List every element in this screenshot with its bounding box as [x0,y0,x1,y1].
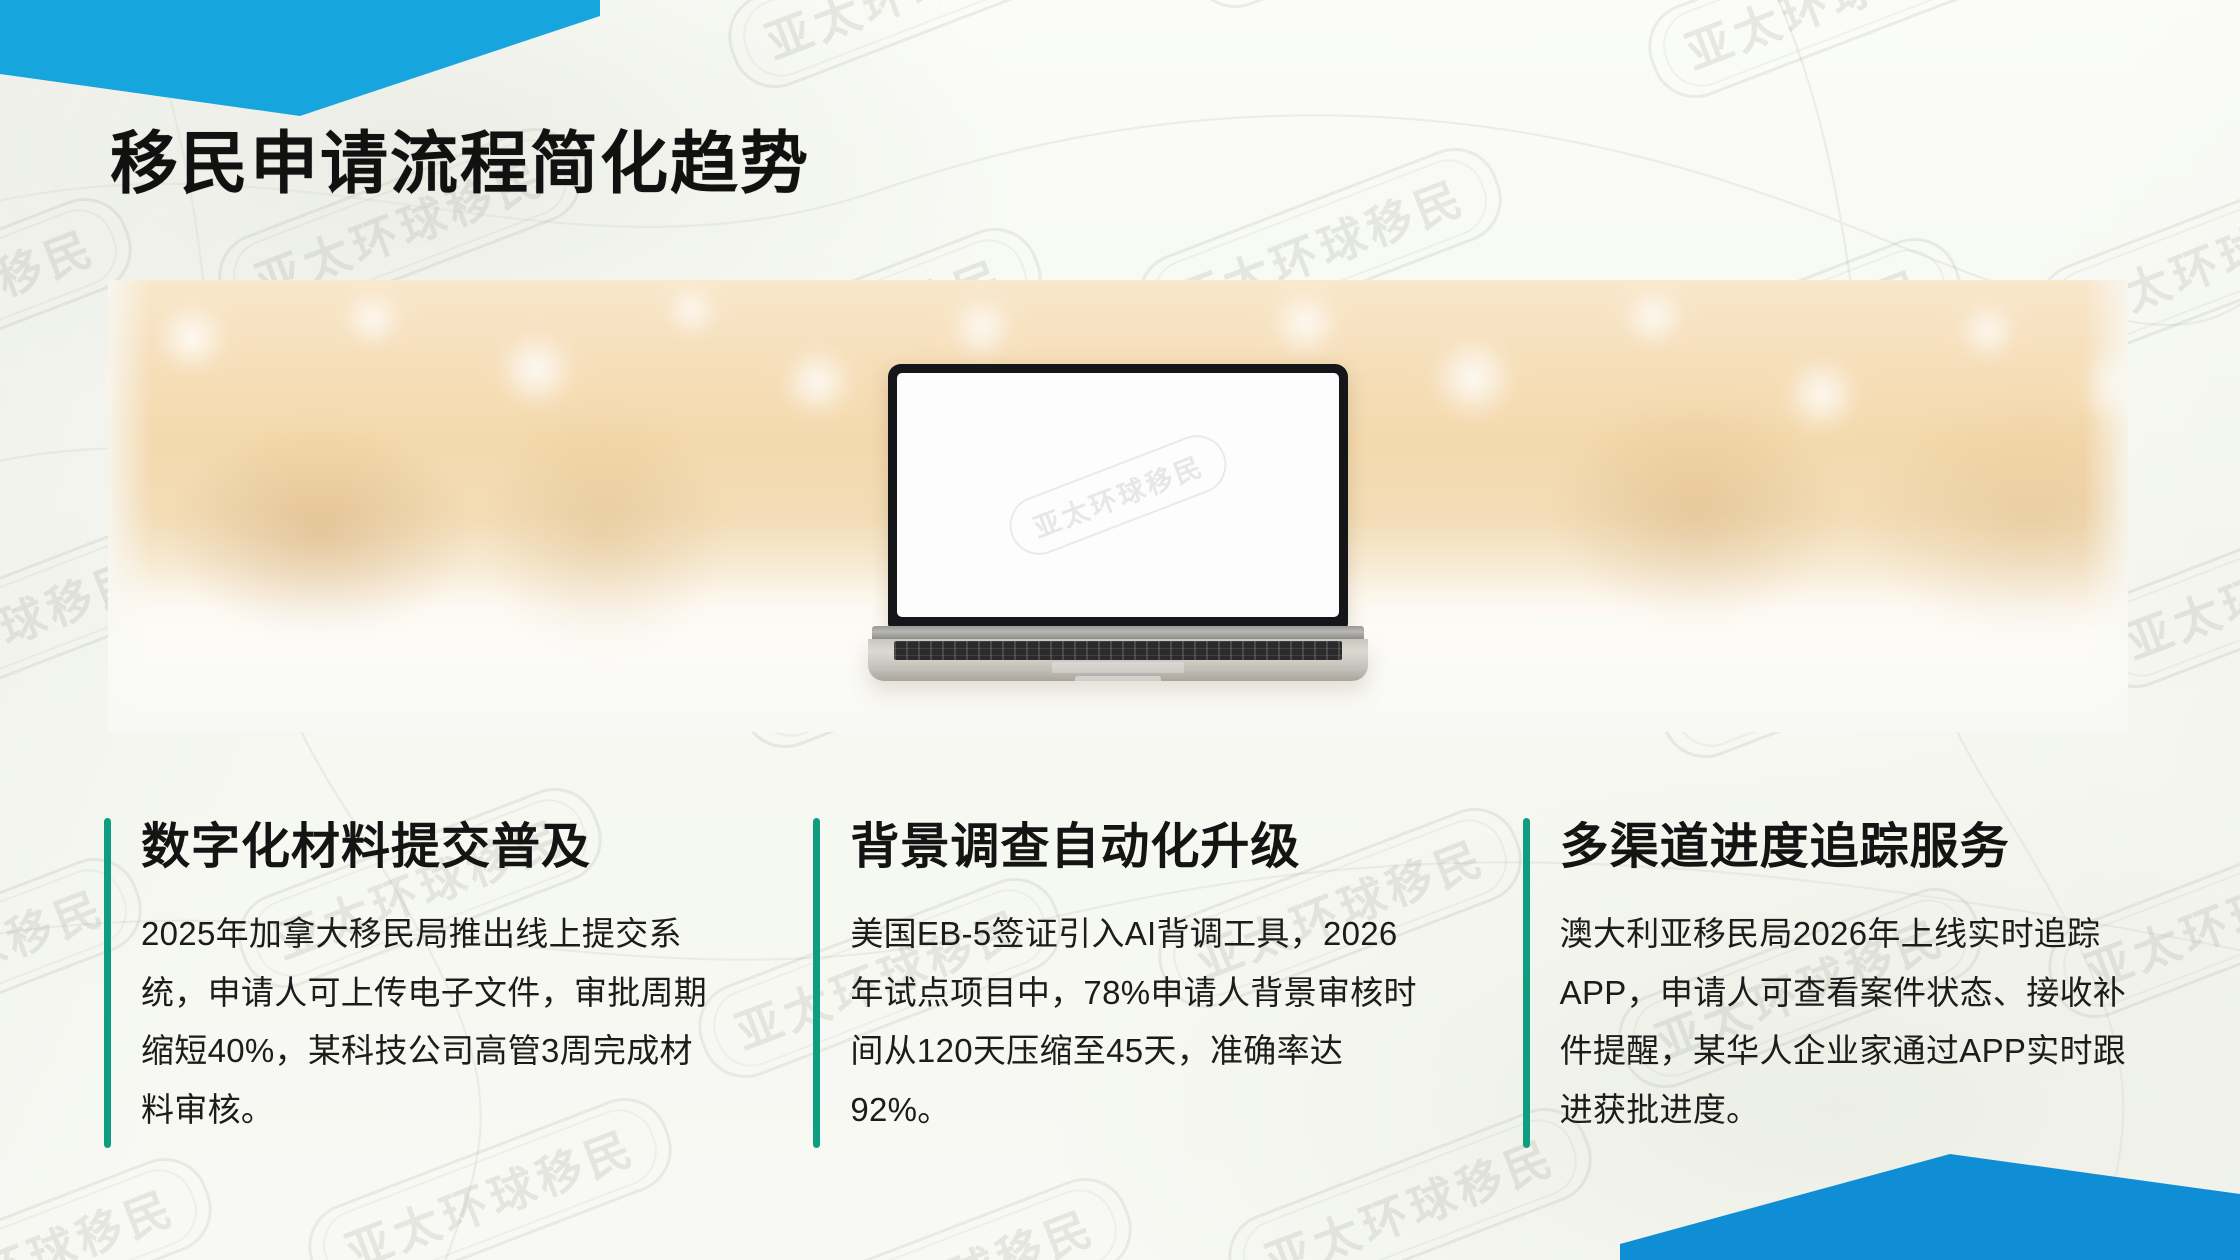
screen-watermark: 亚太环球移民 [1001,427,1235,564]
watermark-tile: 亚太环球移民 [1635,0,2024,111]
decorative-corner-top-left [0,0,600,130]
laptop-illustration: 亚太环球移民 [868,364,1368,681]
watermark-tile: 亚太环球移民 [715,0,1104,101]
page-title: 移民申请流程简化趋势 [110,128,810,201]
column-accent-bar [1523,818,1530,1148]
laptop-hinge [872,626,1364,639]
watermark-tile: 亚太环球移民 [0,1145,225,1260]
laptop-keyboard [894,641,1342,660]
content-column: 多渠道进度追踪服务 澳大利亚移民局2026年上线实时追踪APP，申请人可查看案件… [1523,818,2136,1148]
laptop-screen: 亚太环球移民 [897,373,1339,617]
laptop-trackpad [1052,662,1184,673]
column-accent-bar [104,818,111,1148]
column-accent-bar [813,818,820,1148]
column-heading: 多渠道进度追踪服务 [1560,820,2136,875]
column-body: 背景调查自动化升级 美国EB-5签证引入AI背调工具，2026年试点项目中，78… [850,818,1426,1148]
content-column: 背景调查自动化升级 美国EB-5签证引入AI背调工具，2026年试点项目中，78… [813,818,1426,1148]
hero-image: 亚太环球移民 [108,280,2128,732]
laptop-front-notch [1075,676,1161,681]
column-paragraph: 美国EB-5签证引入AI背调工具，2026年试点项目中，78%申请人背景审核时间… [850,905,1426,1140]
watermark-tile: 亚太环球移民 [2055,0,2240,11]
column-body: 数字化材料提交普及 2025年加拿大移民局推出线上提交系统，申请人可上传电子文件… [141,818,717,1148]
column-heading: 数字化材料提交普及 [141,820,717,875]
column-paragraph: 澳大利亚移民局2026年上线实时追踪APP，申请人可查看案件状态、接收补件提醒，… [1560,905,2136,1140]
content-columns: 数字化材料提交普及 2025年加拿大移民局推出线上提交系统，申请人可上传电子文件… [104,818,2136,1148]
watermark-tile: 亚太环球移民 [755,1165,1144,1260]
decorative-corner-bottom-right [1620,1132,2240,1260]
column-body: 多渠道进度追踪服务 澳大利亚移民局2026年上线实时追踪APP，申请人可查看案件… [1560,818,2136,1148]
column-heading: 背景调查自动化升级 [850,820,1426,875]
slide-root: 亚太环球移民 亚太环球移民 亚太环球移民 亚太环球移民 亚太环球移民 亚太环球移… [0,0,2240,1260]
laptop-base [868,639,1368,681]
watermark-tile: 亚太环球移民 [1175,0,1564,21]
column-paragraph: 2025年加拿大移民局推出线上提交系统，申请人可上传电子文件，审批周期缩短40%… [141,905,717,1140]
laptop-lid: 亚太环球移民 [888,364,1348,628]
content-column: 数字化材料提交普及 2025年加拿大移民局推出线上提交系统，申请人可上传电子文件… [104,818,717,1148]
